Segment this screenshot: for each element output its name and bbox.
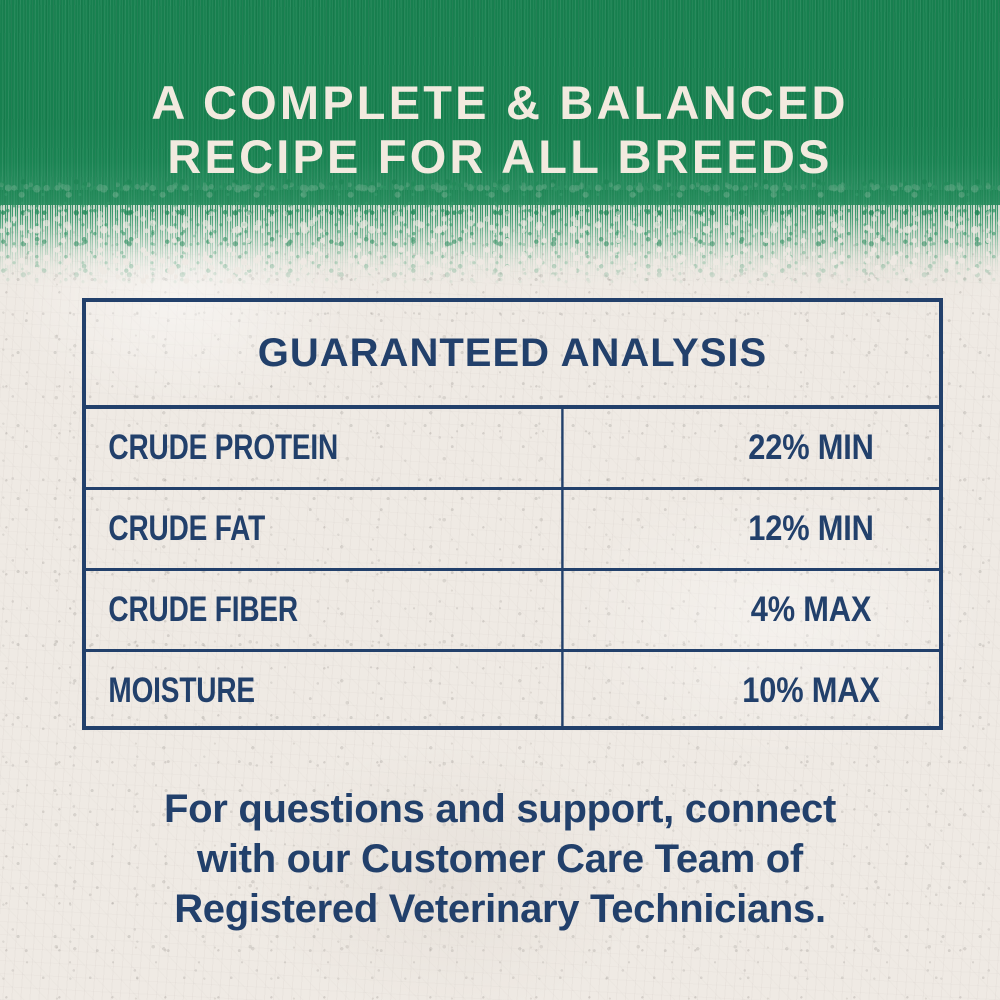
headline-line-2: RECIPE FOR ALL BREEDS — [0, 130, 1000, 184]
customer-care-note-line-1: For questions and support, connect — [60, 784, 940, 834]
nutrient-label: MOISTURE — [86, 652, 564, 730]
nutrient-value: 12% MIN — [698, 490, 923, 568]
guaranteed-analysis-table: GUARANTEED ANALYSIS CRUDE PROTEIN 22% MI… — [82, 298, 943, 730]
table-row: CRUDE FAT 12% MIN — [86, 490, 939, 571]
nutrient-label: CRUDE FAT — [86, 490, 564, 568]
pet-food-label-panel: A COMPLETE & BALANCED RECIPE FOR ALL BRE… — [0, 0, 1000, 1000]
headline-line-1: A COMPLETE & BALANCED — [0, 76, 1000, 130]
customer-care-note: For questions and support, connect with … — [60, 784, 940, 934]
customer-care-note-line-2: with our Customer Care Team of — [60, 834, 940, 884]
nutrient-value: 22% MIN — [698, 409, 923, 487]
customer-care-note-line-3: Registered Veterinary Technicians. — [60, 884, 940, 934]
table-row: MOISTURE 10% MAX — [86, 652, 939, 730]
table-row: CRUDE PROTEIN 22% MIN — [86, 409, 939, 490]
guaranteed-analysis-title: GUARANTEED ANALYSIS — [86, 302, 939, 409]
table-row: CRUDE FIBER 4% MAX — [86, 571, 939, 652]
nutrient-label: CRUDE FIBER — [86, 571, 564, 649]
headline: A COMPLETE & BALANCED RECIPE FOR ALL BRE… — [0, 76, 1000, 184]
nutrient-label: CRUDE PROTEIN — [86, 409, 564, 487]
nutrient-value: 4% MAX — [698, 571, 923, 649]
nutrient-value: 10% MAX — [698, 652, 923, 730]
